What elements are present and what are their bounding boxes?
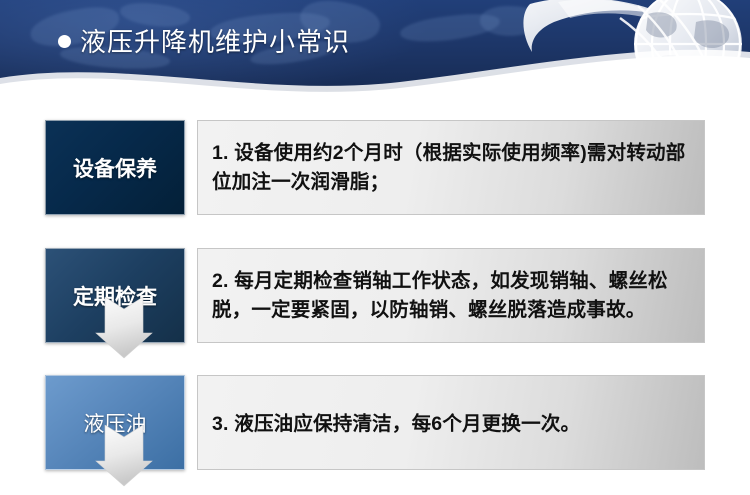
bullet-dot-icon (58, 35, 71, 48)
page-title: 液压升降机维护小常识 (58, 22, 350, 59)
maintenance-tips-list: 设备保养 1. 设备使用约2个月时（根据实际使用频率)需对转动部位加注一次润滑脂… (0, 100, 750, 495)
tip-content-box: 2. 每月定期检查销轴工作状态，如发现销轴、螺丝松脱，一定要紧固，以防轴销、螺丝… (197, 248, 705, 343)
header-banner: 液压升降机维护小常识 (0, 0, 750, 100)
down-arrow-icon (95, 425, 153, 487)
tip-label-text: 设备保养 (73, 153, 157, 183)
tip-content-text: 1. 设备使用约2个月时（根据实际使用频率)需对转动部位加注一次润滑脂； (212, 139, 690, 196)
tip-content-box: 3. 液压油应保持清洁，每6个月更换一次。 (197, 375, 705, 470)
tip-label-box-equipment-maintenance[interactable]: 设备保养 (45, 120, 185, 215)
tip-content-box: 1. 设备使用约2个月时（根据实际使用频率)需对转动部位加注一次润滑脂； (197, 120, 705, 215)
down-arrow-icon (95, 297, 153, 359)
tip-row: 设备保养 1. 设备使用约2个月时（根据实际使用频率)需对转动部位加注一次润滑脂… (45, 120, 705, 215)
tip-content-text: 3. 液压油应保持清洁，每6个月更换一次。 (212, 406, 580, 438)
page-title-text: 液压升降机维护小常识 (80, 22, 350, 59)
tip-content-text: 2. 每月定期检查销轴工作状态，如发现销轴、螺丝松脱，一定要紧固，以防轴销、螺丝… (212, 267, 690, 324)
